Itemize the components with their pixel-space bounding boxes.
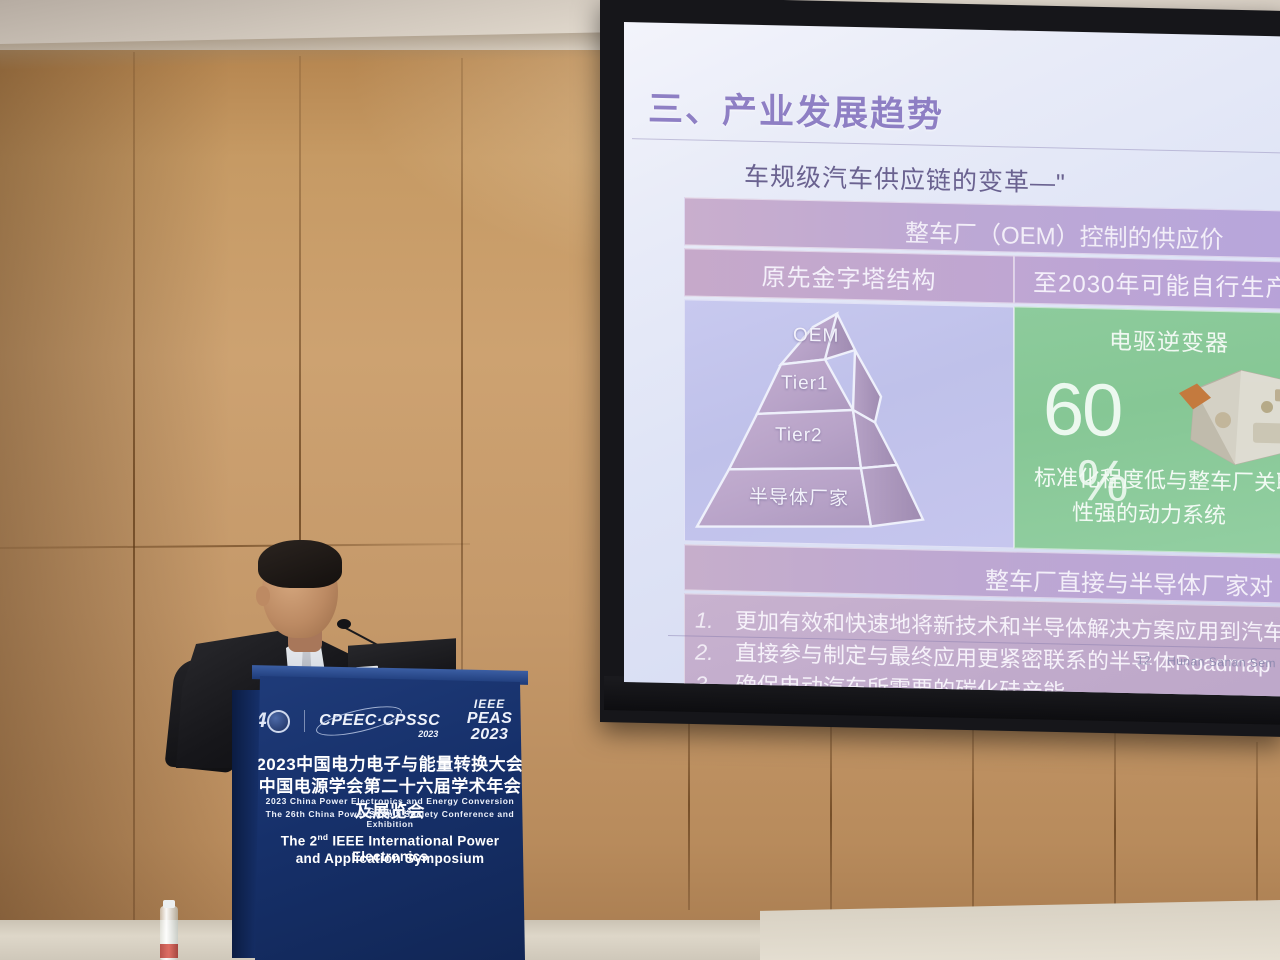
symposium-ordinal: nd	[317, 832, 328, 842]
podium-symposium-line-2: and Application Symposium	[255, 851, 525, 866]
slide-table: 整车厂（OEM）控制的供应价 原先金字塔结构 至2030年可能自行生产的厂	[684, 197, 1280, 696]
water-bottle	[160, 906, 178, 960]
slide-footer-org: Hunan Sanan Sem	[1167, 654, 1276, 670]
list-item-number: 2.	[695, 636, 735, 669]
cpeec-year: 2023	[418, 730, 438, 739]
slide-subtitle: 车规级汽车供应链的变革—"	[744, 157, 1066, 200]
ieee-peas-logo: IEEE PEAS 2023	[454, 698, 525, 744]
inverter-value: 60	[1043, 366, 1121, 453]
slide-page-number: 12	[1137, 653, 1151, 667]
podium-logo-row: 404 CPEEC·CPSSC 2023 IEEE PEAS 2023	[255, 698, 525, 744]
pyramid-level-semiconductor: 半导体厂家	[749, 482, 849, 511]
slide-footer: 12Hunan Sanan Sem	[1137, 653, 1276, 670]
ieee-text: IEEE	[454, 698, 525, 711]
benefits-list: 1. 更加有效和快速地将新技术和半导体解决方案应用到汽车 2. 直接参与制定与最…	[684, 593, 1280, 696]
symposium-pre: The 2	[281, 834, 318, 849]
orbit-icon	[314, 700, 405, 741]
peas-text: PEAS 2023	[454, 711, 525, 745]
microphone-head	[337, 619, 351, 629]
wall-seam	[133, 52, 135, 950]
content-row: OEM Tier1 Tier2 半导体厂家 电驱逆变器	[684, 299, 1280, 555]
podium-banner: 404 CPEEC·CPSSC 2023 IEEE PEAS 2023 2023…	[255, 676, 525, 960]
podium-title-en-2: The 26th China Power Supply Society Conf…	[255, 809, 525, 829]
globe-icon	[267, 710, 290, 733]
logo-divider	[304, 710, 305, 732]
inverter-desc-line1: 标准化程度低与整车厂关联	[1015, 460, 1280, 499]
inverter-panel: 电驱逆变器 60 % 标准化程度低与	[1014, 307, 1280, 556]
anniversary-40-logo: 404	[255, 708, 290, 734]
wall-seam	[461, 58, 463, 698]
pyramid-level-tier1: Tier1	[781, 372, 829, 395]
list-item-number: 1.	[695, 605, 735, 638]
oem-control-bar-label: 整车厂（OEM）控制的供应价	[905, 213, 1224, 255]
wall-seam	[1114, 732, 1116, 930]
pyramid-level-tier2: Tier2	[775, 424, 823, 447]
conference-room-scene: 三、产业发展趋势 车规级汽车供应链的变革—" 整车厂（OEM）控制的供应价 原先…	[0, 0, 1280, 960]
wall-seam	[830, 712, 832, 918]
direct-contact-bar-label: 整车厂直接与半导体厂家对	[985, 561, 1273, 602]
inverter-desc-line2: 性强的动力系统	[1015, 494, 1280, 532]
pyramid-level-oem: OEM	[793, 325, 839, 348]
pyramid-panel: OEM Tier1 Tier2 半导体厂家	[684, 299, 1014, 548]
cpeec-cpssc-logo: CPEEC·CPSSC 2023	[319, 713, 440, 729]
speaker-ear	[256, 586, 270, 606]
column-header-right: 至2030年可能自行生产的厂	[1014, 256, 1280, 311]
title-divider	[632, 138, 1280, 153]
floor-front	[760, 900, 1280, 960]
wall-shadow-left	[0, 50, 230, 950]
wall-seam	[688, 700, 690, 910]
pyramid-diagram	[685, 300, 1014, 548]
bottle-label	[160, 944, 178, 958]
wall-seam	[972, 722, 974, 924]
presentation-slide: 三、产业发展趋势 车规级汽车供应链的变革—" 整车厂（OEM）控制的供应价 原先…	[624, 22, 1280, 696]
speaker-hair	[258, 540, 342, 588]
column-header-left: 原先金字塔结构	[684, 248, 1014, 303]
slide-title: 三、产业发展趋势	[648, 81, 944, 138]
bottle-cap	[163, 900, 175, 908]
